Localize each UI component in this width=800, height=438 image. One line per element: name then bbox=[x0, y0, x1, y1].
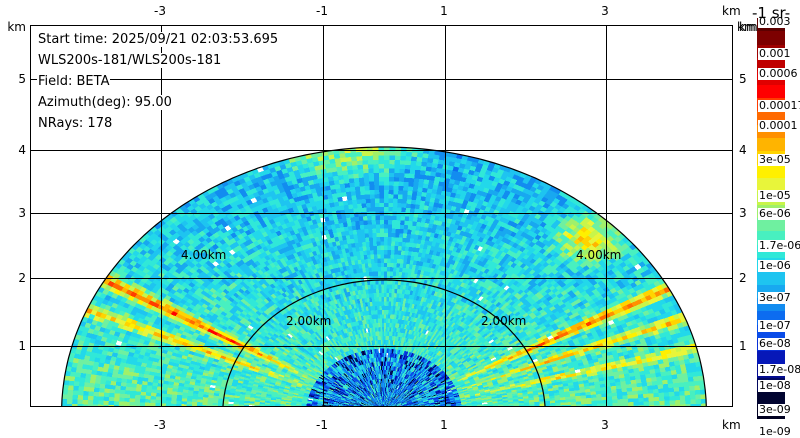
y-tick-right-5: 5 bbox=[739, 72, 747, 86]
range-ring-label-4km-right: 4.00km bbox=[576, 248, 621, 262]
y-tick-left-1: 1 bbox=[4, 339, 26, 353]
gridline-x-3 bbox=[606, 26, 607, 406]
gridline-y-2 bbox=[31, 278, 732, 279]
x-unit-bottom: km bbox=[722, 418, 741, 432]
x-tick-bottom-2: 1 bbox=[440, 418, 448, 432]
colorbar-tick-label: 1e-07 bbox=[758, 320, 792, 332]
colorbar-tick-label: 1e-06 bbox=[758, 260, 792, 272]
x-tick-bottom-0: -3 bbox=[154, 418, 166, 432]
colorbar-tick-label: 0.0006 bbox=[758, 68, 799, 80]
metadata-instrument: WLS200s-181/WLS200s-181 bbox=[37, 53, 222, 68]
colorbar-tick-label: 3e-05 bbox=[758, 154, 792, 166]
range-ring-label-4km-left: 4.00km bbox=[181, 248, 226, 262]
y-tick-right-2: 2 bbox=[739, 271, 747, 285]
colorbar-tick-label: 3e-09 bbox=[758, 404, 792, 416]
colorbar-tick-label: 0.00017 bbox=[758, 100, 800, 112]
colorbar-tick-label: 1e-09 bbox=[758, 426, 792, 438]
x-tick-top-1: -1 bbox=[316, 4, 328, 18]
y-tick-right-1: 1 bbox=[739, 339, 747, 353]
colorbar-tick-label: 3e-07 bbox=[758, 292, 792, 304]
colorbar-tick-label: 1e-08 bbox=[758, 380, 792, 392]
scan-metadata-block: Start time: 2025/09/21 02:03:53.695 WLS2… bbox=[37, 28, 279, 133]
gridline-y-3 bbox=[31, 213, 732, 214]
colorbar-tick-label: 6e-06 bbox=[758, 208, 792, 220]
colorbar-tick-label: 0.001 bbox=[758, 48, 792, 60]
colorbar-tick-label: 1e-05 bbox=[758, 190, 792, 202]
metadata-start-time: Start time: 2025/09/21 02:03:53.695 bbox=[37, 32, 279, 47]
y-tick-left-3: 3 bbox=[4, 206, 26, 220]
range-ring-label-2km-right: 2.00km bbox=[481, 314, 526, 328]
metadata-field: Field: BETA bbox=[37, 74, 110, 89]
colorbar-tick-label: 0.0001 bbox=[758, 120, 799, 132]
y-tick-left-2: 2 bbox=[4, 271, 26, 285]
gridline-y-4 bbox=[31, 150, 732, 151]
y-tick-left-4: 4 bbox=[4, 143, 26, 157]
x-unit-top: km bbox=[722, 4, 741, 18]
range-ring-label-2km-left: 2.00km bbox=[286, 314, 331, 328]
rhi-plot-area[interactable]: 4.00km 4.00km 2.00km 2.00km Start time: … bbox=[30, 25, 733, 407]
x-tick-bottom-3: 3 bbox=[601, 418, 609, 432]
gridline-x-neg1 bbox=[323, 26, 324, 406]
metadata-azimuth: Azimuth(deg): 95.00 bbox=[37, 95, 173, 110]
x-tick-bottom-1: -1 bbox=[316, 418, 328, 432]
metadata-nrays: NRays: 178 bbox=[37, 116, 113, 131]
y-tick-right-3: 3 bbox=[739, 206, 747, 220]
y-unit-left: km bbox=[4, 20, 26, 34]
colorbar-tick-label: 1.7e-06 bbox=[758, 240, 800, 252]
x-tick-top-2: 1 bbox=[440, 4, 448, 18]
colorbar-tick-label: 6e-08 bbox=[758, 338, 792, 350]
x-tick-top-3: 3 bbox=[601, 4, 609, 18]
gridline-x-1 bbox=[445, 26, 446, 406]
y-tick-left-5: 5 bbox=[4, 72, 26, 86]
y-tick-right-4: 4 bbox=[739, 143, 747, 157]
gridline-y-1 bbox=[31, 346, 732, 347]
colorbar[interactable]: 0.0030.0010.00060.000170.00013e-051e-056… bbox=[757, 18, 785, 418]
x-tick-top-0: -3 bbox=[154, 4, 166, 18]
colorbar-units-label: -1 sr- bbox=[752, 4, 790, 22]
colorbar-tick-label: 1.7e-08 bbox=[758, 364, 800, 376]
colorbar-km-label: km bbox=[737, 20, 756, 34]
